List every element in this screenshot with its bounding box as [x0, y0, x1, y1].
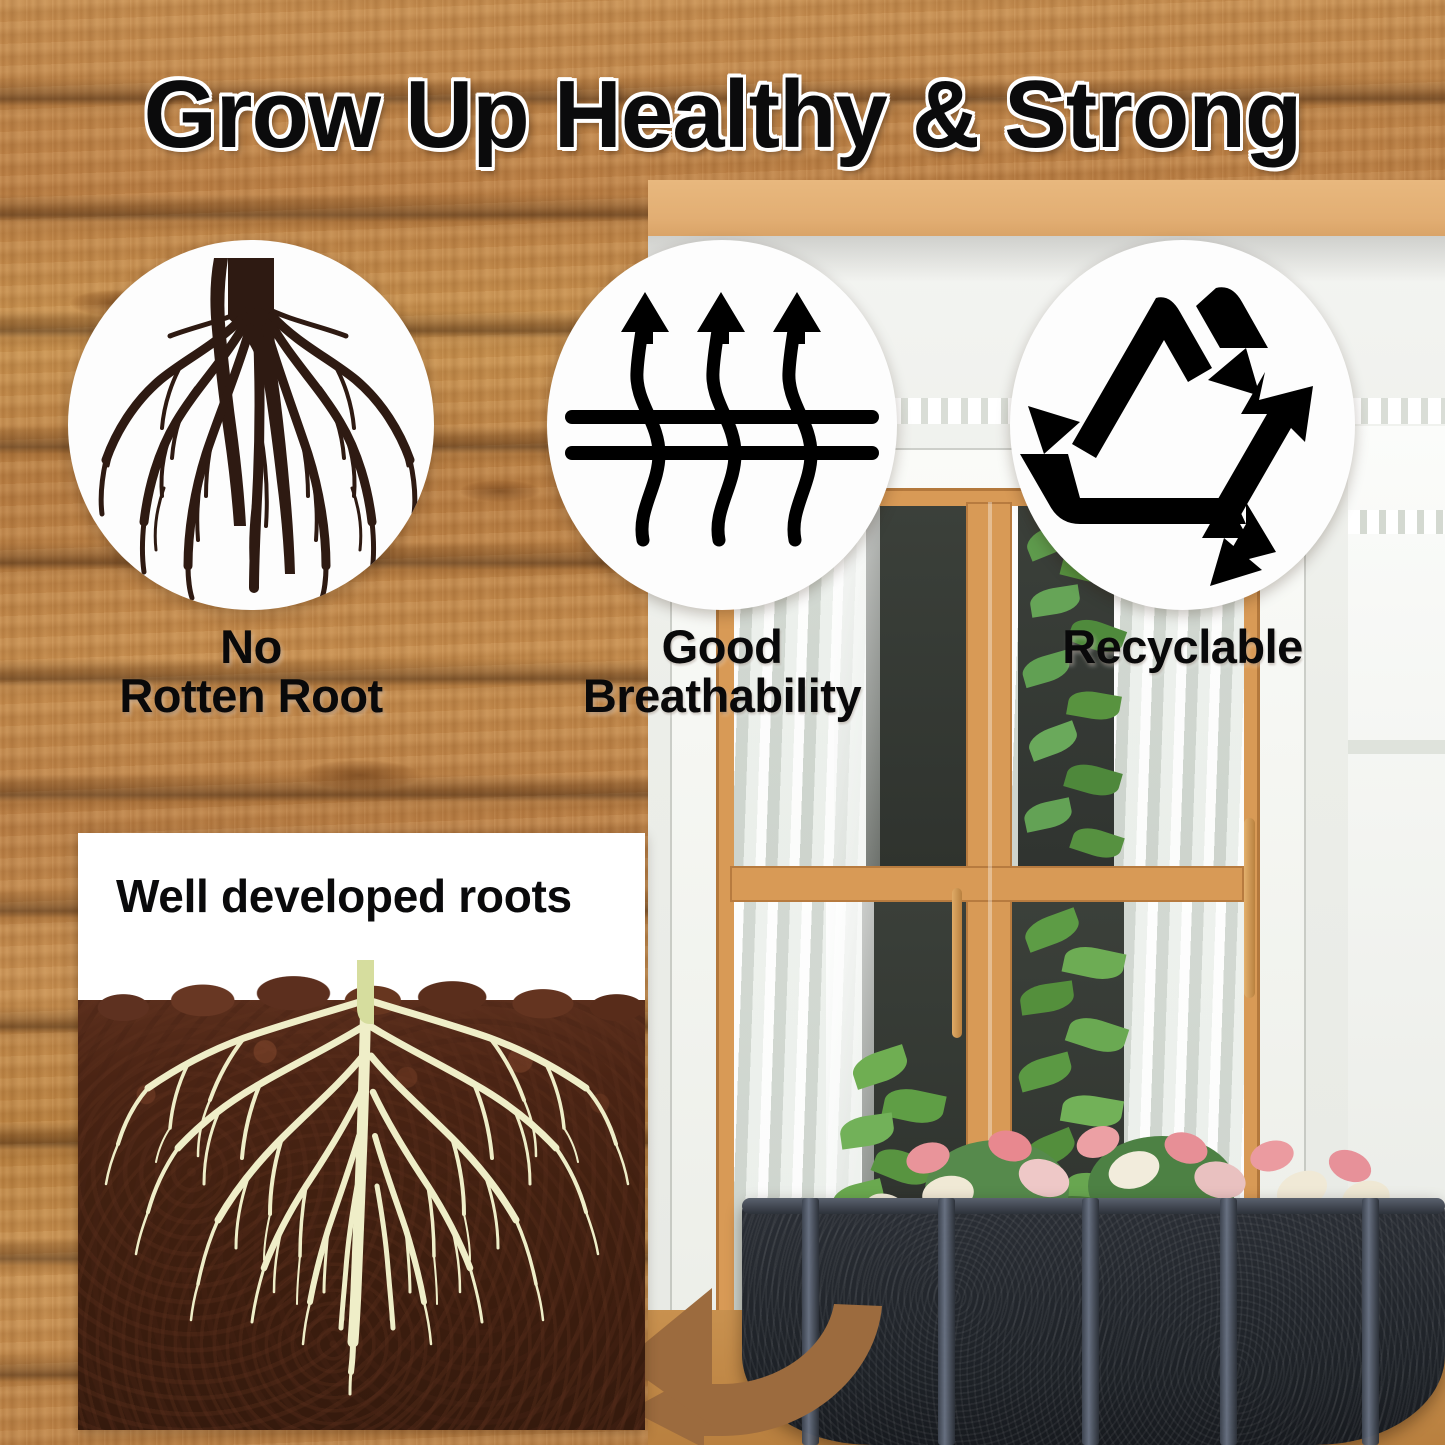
window-handle-right[interactable]: [1244, 818, 1255, 998]
badge-caption: Recyclable: [1062, 622, 1303, 671]
badge-caption-line2: Rotten Root: [119, 671, 382, 720]
badge-caption-line2: Breathability: [583, 671, 861, 720]
feature-badge-recyclable: Recyclable: [1010, 240, 1355, 610]
badge-caption-line1: Recyclable: [1062, 622, 1303, 671]
airflow-breathability-icon: [547, 240, 897, 610]
badge-caption: No Rotten Root: [119, 622, 382, 720]
feature-badge-good-breathability: Good Breathability: [547, 240, 897, 610]
badge-disc: [547, 240, 897, 610]
planter-strap: [938, 1198, 955, 1445]
planter-strap: [1220, 1198, 1237, 1445]
well-developed-roots-panel: Well developed roots: [78, 833, 645, 1430]
badge-disc: [1010, 240, 1355, 610]
planter-strap: [1362, 1198, 1379, 1445]
window-mullion-horizontal: [730, 866, 1244, 902]
wood-knot: [460, 480, 540, 502]
page-title: Grow Up Healthy & Strong: [14, 62, 1430, 168]
tree-roots-icon: [68, 240, 434, 610]
badge-disc: [68, 240, 434, 610]
right-dentil-trim: [1348, 510, 1445, 534]
planter-strap: [1082, 1198, 1099, 1445]
window-handle-left[interactable]: [952, 888, 962, 1038]
feature-badge-no-rotten-root: No Rotten Root: [68, 240, 434, 610]
product-feature-image: Grow Up Healthy & Strong: [0, 0, 1445, 1445]
wood-knot: [300, 760, 420, 790]
root-system-diagram: [78, 960, 645, 1430]
recycling-icon: [1010, 240, 1355, 610]
badge-caption-line1: Good: [583, 622, 861, 671]
inset-title: Well developed roots: [116, 871, 572, 921]
badge-caption-line1: No: [119, 622, 382, 671]
badge-caption: Good Breathability: [583, 622, 861, 720]
right-trim-line: [1348, 740, 1445, 754]
upper-sill-band: [648, 180, 1445, 244]
